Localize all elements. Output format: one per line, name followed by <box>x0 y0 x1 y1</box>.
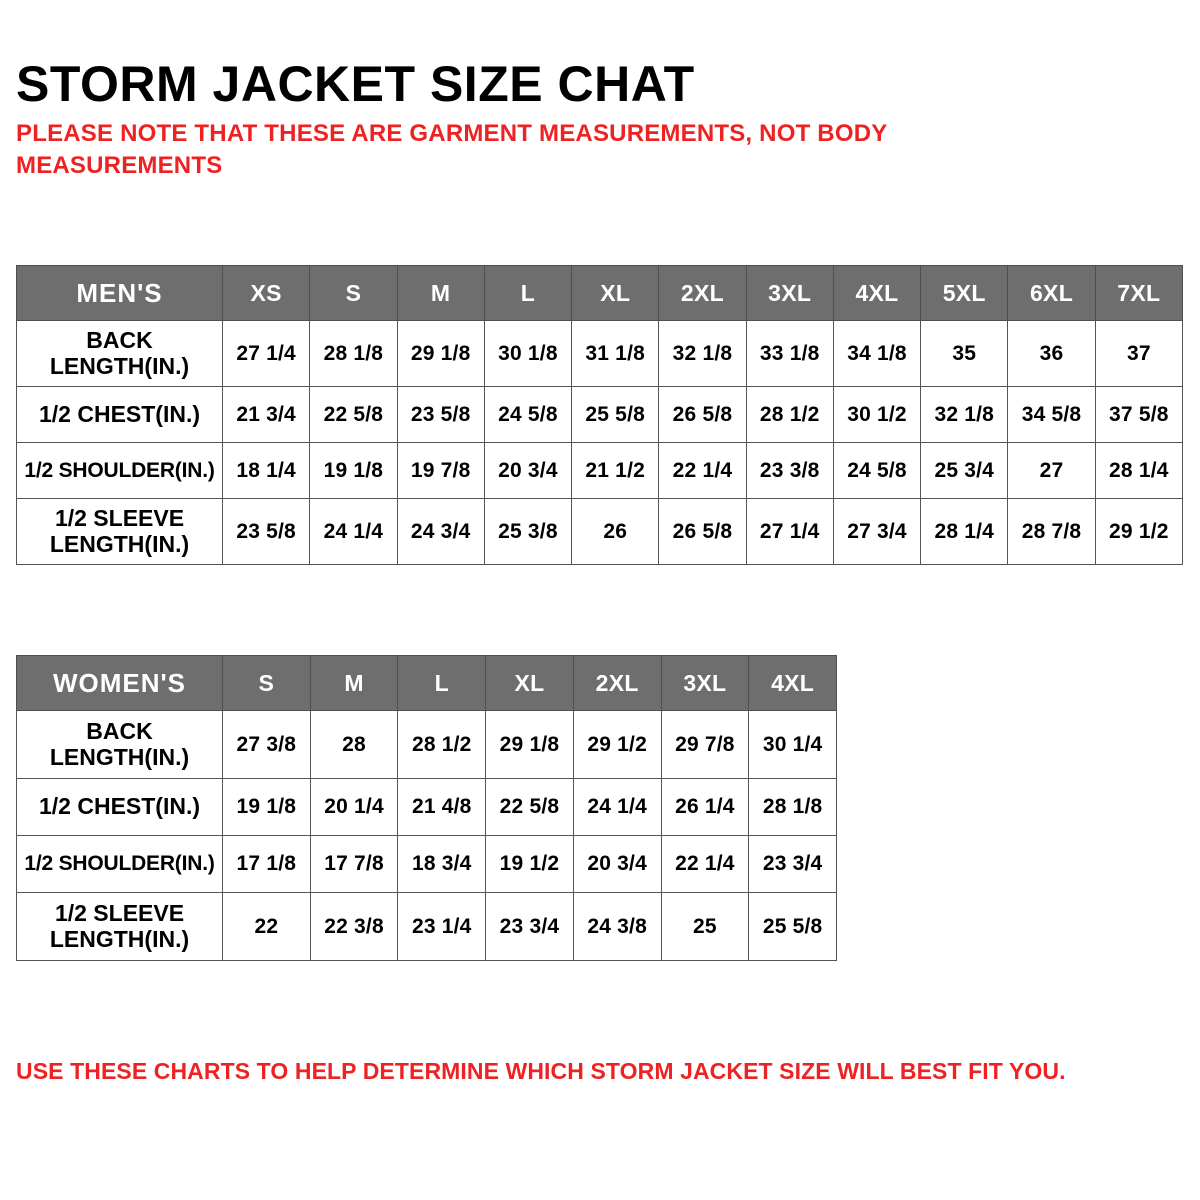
measurement-cell: 28 <box>310 711 398 779</box>
measurement-cell: 25 3/8 <box>484 499 571 565</box>
measurement-cell: 24 3/8 <box>573 893 661 961</box>
measurement-cell: 22 5/8 <box>486 779 574 836</box>
womens-column-header-l: L <box>398 656 486 711</box>
mens-header-row: MEN'SXSSMLXL2XL3XL4XL5XL6XL7XL <box>17 266 1183 321</box>
measurement-cell: 23 5/8 <box>397 387 484 443</box>
measurement-cell: 30 1/8 <box>484 321 571 387</box>
measurement-cell: 19 1/8 <box>223 779 311 836</box>
mens-table-head: MEN'SXSSMLXL2XL3XL4XL5XL6XL7XL <box>17 266 1183 321</box>
mens-size-table: MEN'SXSSMLXL2XL3XL4XL5XL6XL7XL BACKLENGT… <box>16 265 1183 565</box>
measurement-cell: 23 3/4 <box>749 836 837 893</box>
measurement-cell: 34 5/8 <box>1008 387 1095 443</box>
mens-column-header-4xl: 4XL <box>833 266 920 321</box>
womens-corner-header: WOMEN'S <box>17 656 223 711</box>
measurement-cell: 30 1/4 <box>749 711 837 779</box>
measurement-cell: 24 5/8 <box>833 443 920 499</box>
measurement-cell: 24 1/4 <box>573 779 661 836</box>
measurement-cell: 22 5/8 <box>310 387 397 443</box>
measurement-cell: 21 4/8 <box>398 779 486 836</box>
measurement-cell: 26 <box>572 499 659 565</box>
measurement-cell: 37 <box>1095 321 1182 387</box>
measurement-cell: 34 1/8 <box>833 321 920 387</box>
table-row: 1/2 CHEST(IN.)21 3/422 5/823 5/824 5/825… <box>17 387 1183 443</box>
mens-column-header-l: L <box>484 266 571 321</box>
womens-header-row: WOMEN'SSMLXL2XL3XL4XL <box>17 656 837 711</box>
measurement-cell: 20 3/4 <box>484 443 571 499</box>
womens-table-body: BACKLENGTH(IN.)27 3/82828 1/229 1/829 1/… <box>17 711 837 961</box>
measurement-cell: 18 3/4 <box>398 836 486 893</box>
row-label: 1/2 CHEST(IN.) <box>17 779 223 836</box>
mens-corner-header: MEN'S <box>17 266 223 321</box>
row-label: BACKLENGTH(IN.) <box>17 321 223 387</box>
mens-column-header-3xl: 3XL <box>746 266 833 321</box>
table-row: 1/2 CHEST(IN.)19 1/820 1/421 4/822 5/824… <box>17 779 837 836</box>
measurement-cell: 24 3/4 <box>397 499 484 565</box>
measurement-cell: 27 3/8 <box>223 711 311 779</box>
measurement-cell: 29 7/8 <box>661 711 749 779</box>
mens-table-body: BACKLENGTH(IN.)27 1/428 1/829 1/830 1/83… <box>17 321 1183 565</box>
measurement-cell: 29 1/2 <box>573 711 661 779</box>
womens-table-head: WOMEN'SSMLXL2XL3XL4XL <box>17 656 837 711</box>
measurement-cell: 19 1/2 <box>486 836 574 893</box>
measurement-cell: 27 3/4 <box>833 499 920 565</box>
table-row: BACKLENGTH(IN.)27 1/428 1/829 1/830 1/83… <box>17 321 1183 387</box>
measurement-cell: 28 1/4 <box>921 499 1008 565</box>
measurement-cell: 19 1/8 <box>310 443 397 499</box>
mens-column-header-xl: XL <box>572 266 659 321</box>
measurement-cell: 26 5/8 <box>659 499 746 565</box>
measurement-cell: 28 1/8 <box>310 321 397 387</box>
measurement-cell: 32 1/8 <box>659 321 746 387</box>
mens-column-header-7xl: 7XL <box>1095 266 1182 321</box>
row-label: 1/2 SLEEVELENGTH(IN.) <box>17 893 223 961</box>
row-label: BACKLENGTH(IN.) <box>17 711 223 779</box>
measurement-cell: 17 7/8 <box>310 836 398 893</box>
table-row: 1/2 SLEEVELENGTH(IN.)23 5/824 1/424 3/42… <box>17 499 1183 565</box>
table-row: 1/2 SHOULDER(IN.)18 1/419 1/819 7/820 3/… <box>17 443 1183 499</box>
measurement-cell: 20 1/4 <box>310 779 398 836</box>
mens-column-header-5xl: 5XL <box>921 266 1008 321</box>
measurement-cell: 23 1/4 <box>398 893 486 961</box>
measurement-cell: 29 1/2 <box>1095 499 1182 565</box>
mens-column-header-m: M <box>397 266 484 321</box>
mens-column-header-2xl: 2XL <box>659 266 746 321</box>
measurement-cell: 27 <box>1008 443 1095 499</box>
measurement-cell: 36 <box>1008 321 1095 387</box>
measurement-cell: 22 1/4 <box>661 836 749 893</box>
measurement-cell: 31 1/8 <box>572 321 659 387</box>
measurement-cell: 20 3/4 <box>573 836 661 893</box>
measurement-cell: 21 1/2 <box>572 443 659 499</box>
measurement-cell: 27 1/4 <box>223 321 310 387</box>
table-row: BACKLENGTH(IN.)27 3/82828 1/229 1/829 1/… <box>17 711 837 779</box>
measurement-cell: 27 1/4 <box>746 499 833 565</box>
measurement-cell: 28 1/2 <box>746 387 833 443</box>
measurement-cell: 17 1/8 <box>223 836 311 893</box>
measurement-cell: 23 5/8 <box>223 499 310 565</box>
measurement-cell: 28 1/2 <box>398 711 486 779</box>
measurement-cell: 22 1/4 <box>659 443 746 499</box>
measurement-cell: 32 1/8 <box>921 387 1008 443</box>
womens-column-header-xl: XL <box>486 656 574 711</box>
page-title: STORM JACKET SIZE CHAT <box>16 58 695 111</box>
row-label: 1/2 SLEEVELENGTH(IN.) <box>17 499 223 565</box>
measurement-cell: 29 1/8 <box>397 321 484 387</box>
measurement-cell: 37 5/8 <box>1095 387 1182 443</box>
womens-column-header-4xl: 4XL <box>749 656 837 711</box>
womens-column-header-m: M <box>310 656 398 711</box>
measurement-cell: 28 1/4 <box>1095 443 1182 499</box>
measurement-cell: 25 5/8 <box>572 387 659 443</box>
measurement-cell: 26 1/4 <box>661 779 749 836</box>
table-row: 1/2 SHOULDER(IN.)17 1/817 7/818 3/419 1/… <box>17 836 837 893</box>
womens-column-header-3xl: 3XL <box>661 656 749 711</box>
size-chart-page: STORM JACKET SIZE CHAT PLEASE NOTE THAT … <box>0 0 1200 1200</box>
measurement-cell: 25 <box>661 893 749 961</box>
measurement-cell: 28 7/8 <box>1008 499 1095 565</box>
measurement-cell: 26 5/8 <box>659 387 746 443</box>
mens-column-header-xs: XS <box>223 266 310 321</box>
measurement-cell: 33 1/8 <box>746 321 833 387</box>
row-label: 1/2 SHOULDER(IN.) <box>17 836 223 893</box>
measurement-cell: 24 5/8 <box>484 387 571 443</box>
measurement-cell: 23 3/8 <box>746 443 833 499</box>
mens-column-header-6xl: 6XL <box>1008 266 1095 321</box>
mens-column-header-s: S <box>310 266 397 321</box>
measurement-cell: 23 3/4 <box>486 893 574 961</box>
womens-size-table: WOMEN'SSMLXL2XL3XL4XL BACKLENGTH(IN.)27 … <box>16 655 837 961</box>
measurement-cell: 30 1/2 <box>833 387 920 443</box>
usage-note: USE THESE CHARTS TO HELP DETERMINE WHICH… <box>16 1058 1066 1085</box>
womens-column-header-s: S <box>223 656 311 711</box>
measurement-cell: 25 5/8 <box>749 893 837 961</box>
measurement-cell: 22 3/8 <box>310 893 398 961</box>
row-label: 1/2 SHOULDER(IN.) <box>17 443 223 499</box>
measurement-cell: 19 7/8 <box>397 443 484 499</box>
row-label: 1/2 CHEST(IN.) <box>17 387 223 443</box>
measurement-cell: 29 1/8 <box>486 711 574 779</box>
garment-measurement-note: PLEASE NOTE THAT THESE ARE GARMENT MEASU… <box>16 118 976 183</box>
measurement-cell: 18 1/4 <box>223 443 310 499</box>
measurement-cell: 24 1/4 <box>310 499 397 565</box>
measurement-cell: 22 <box>223 893 311 961</box>
womens-column-header-2xl: 2XL <box>573 656 661 711</box>
measurement-cell: 25 3/4 <box>921 443 1008 499</box>
measurement-cell: 28 1/8 <box>749 779 837 836</box>
measurement-cell: 21 3/4 <box>223 387 310 443</box>
table-row: 1/2 SLEEVELENGTH(IN.)2222 3/823 1/423 3/… <box>17 893 837 961</box>
measurement-cell: 35 <box>921 321 1008 387</box>
